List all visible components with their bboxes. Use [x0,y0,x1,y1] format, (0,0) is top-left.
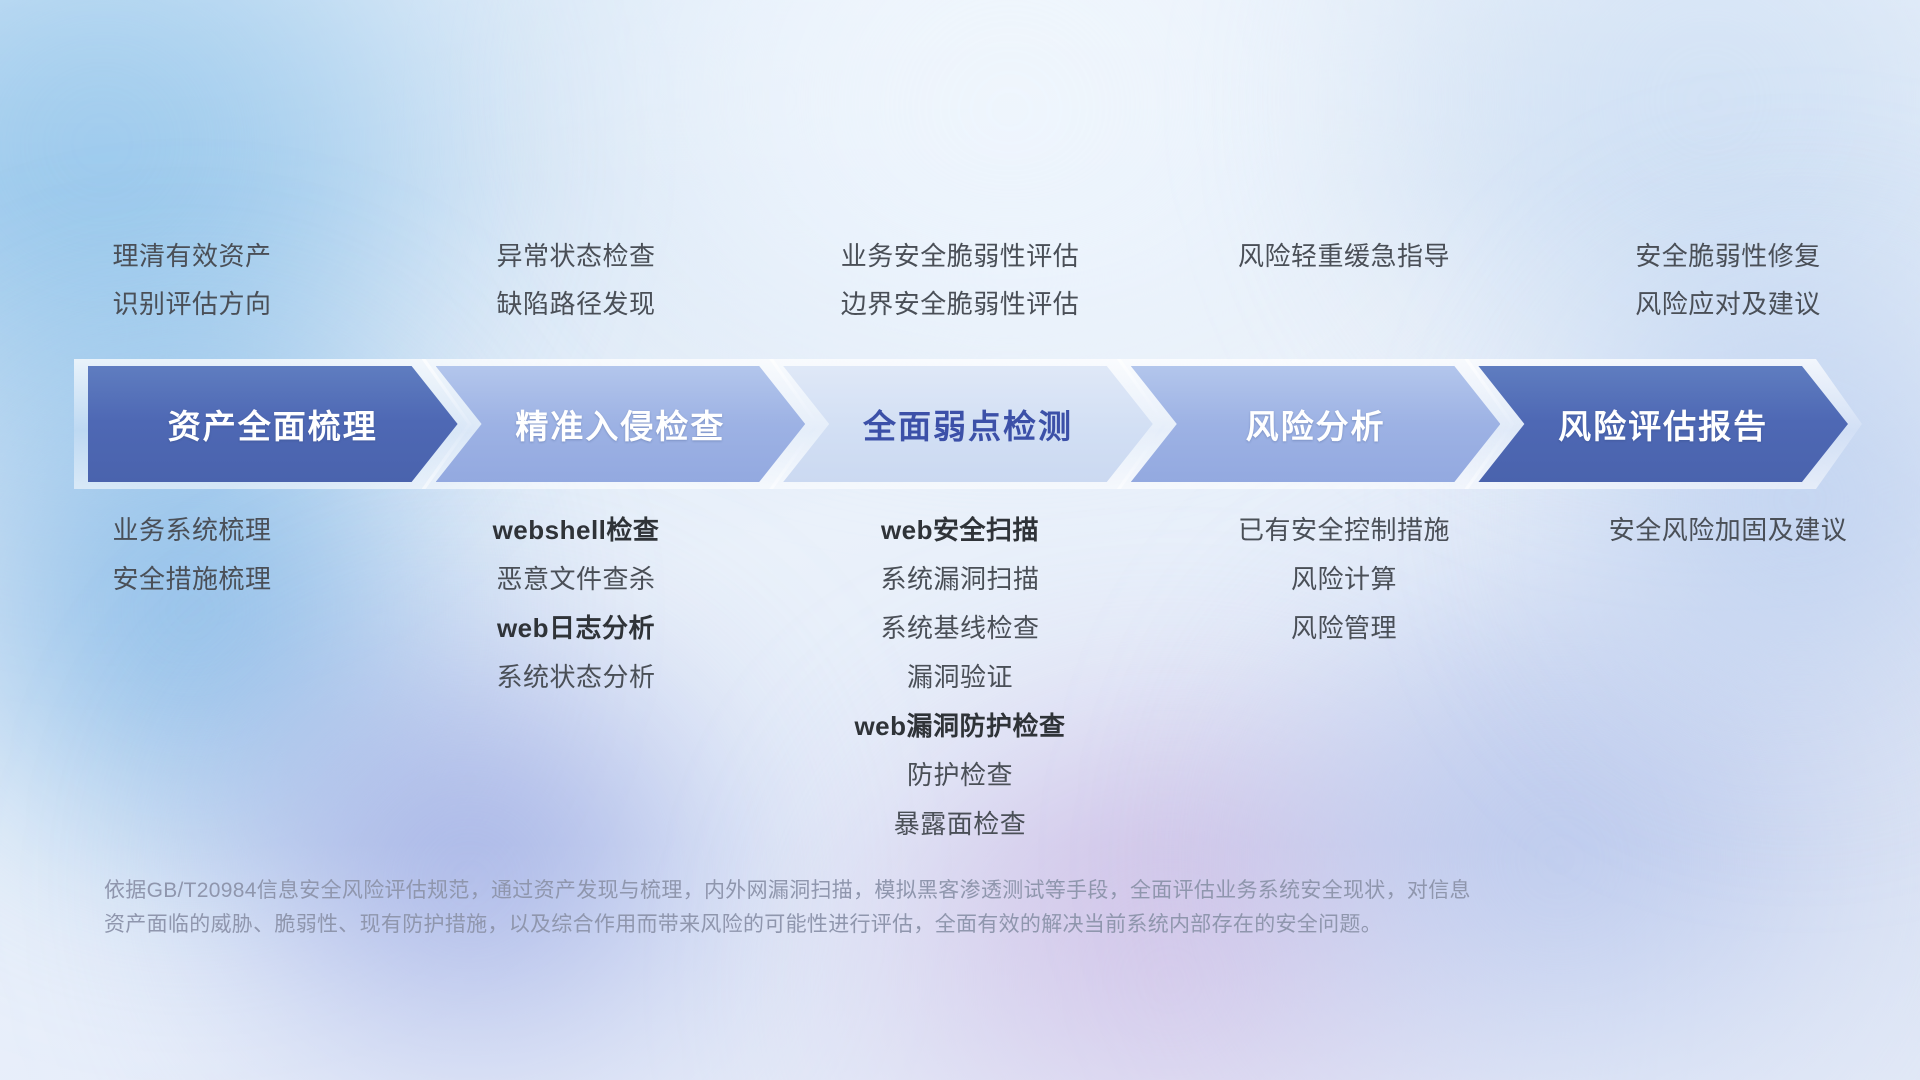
stage-label: 风险评估报告 [1558,400,1768,448]
top-annotations-row: 理清有效资产识别评估方向异常状态检查缺陷路径发现业务安全脆弱性评估边界安全脆弱性… [0,232,1920,342]
top-annotation-column-asset-inventory: 理清有效资产识别评估方向 [0,232,384,342]
bottom-annotation-item: 暴露面检查 [894,800,1027,849]
bottom-annotation-column-intrusion-check: webshell检查恶意文件查杀web日志分析系统状态分析 [384,506,768,836]
top-annotation-item: 理清有效资产 [112,232,271,280]
bottom-annotation-item: web漏洞防护检查 [854,702,1065,751]
process-stage-risk-analysis[interactable]: 风险分析 [1131,366,1501,482]
top-annotation-item: 边界安全脆弱性评估 [841,280,1080,328]
bottom-annotation-item: 恶意文件查杀 [496,555,655,604]
bottom-annotation-column-risk-analysis: 已有安全控制措施风险计算风险管理 [1152,506,1536,836]
stage-label: 风险分析 [1246,400,1386,448]
process-stage-intrusion-check[interactable]: 精准入侵检查 [436,366,806,482]
bottom-annotation-item: 安全措施梳理 [112,555,271,604]
top-annotation-column-risk-analysis: 风险轻重缓急指导 [1152,232,1536,342]
footer-description: 依据GB/T20984信息安全风险评估规范，通过资产发现与梳理，内外网漏洞扫描，… [104,874,1744,942]
stage-label: 资产全面梳理 [168,400,378,448]
top-annotation-column-weakness-detection: 业务安全脆弱性评估边界安全脆弱性评估 [768,232,1152,342]
top-annotation-item: 异常状态检查 [496,232,655,280]
top-annotation-column-intrusion-check: 异常状态检查缺陷路径发现 [384,232,768,342]
top-annotation-item: 业务安全脆弱性评估 [841,232,1080,280]
bottom-annotation-item: 业务系统梳理 [112,506,271,555]
bottom-annotation-item: 防护检查 [907,751,1013,800]
top-annotation-item: 安全脆弱性修复 [1635,232,1821,280]
bottom-annotation-item: 系统状态分析 [496,653,655,702]
bottom-annotation-item: web安全扫描 [881,506,1039,555]
top-annotation-item: 缺陷路径发现 [496,280,655,328]
top-annotation-column-assessment-report: 安全脆弱性修复风险应对及建议 [1536,232,1920,342]
process-stage-assessment-report[interactable]: 风险评估报告 [1478,366,1848,482]
process-diagram: 理清有效资产识别评估方向异常状态检查缺陷路径发现业务安全脆弱性评估边界安全脆弱性… [0,0,1920,1080]
bottom-annotation-column-asset-inventory: 业务系统梳理安全措施梳理 [0,506,384,836]
bottom-annotation-item: 风险计算 [1291,555,1397,604]
bottom-annotation-item: 漏洞验证 [907,653,1013,702]
bottom-annotation-item: webshell检查 [493,506,660,555]
bottom-annotation-item: web日志分析 [497,604,655,653]
footer-line-2: 资产面临的威胁、脆弱性、现有防护措施，以及综合作用而带来风险的可能性进行评估，全… [104,908,1744,942]
process-arrow-band: 资产全面梳理精准入侵检查全面弱点检测风险分析风险评估报告 [88,366,1848,482]
stage-label: 精准入侵检查 [515,400,725,448]
bottom-annotation-column-assessment-report: 安全风险加固及建议 [1536,506,1920,836]
process-stage-weakness-detection[interactable]: 全面弱点检测 [783,366,1153,482]
bottom-annotation-item: 风险管理 [1291,604,1397,653]
top-annotation-item: 风险轻重缓急指导 [1238,232,1450,280]
stage-label: 全面弱点检测 [863,400,1073,448]
bottom-annotation-item: 安全风险加固及建议 [1609,506,1848,555]
top-annotation-item: 风险应对及建议 [1635,280,1821,328]
process-stage-asset-inventory[interactable]: 资产全面梳理 [88,366,458,482]
bottom-annotation-item: 已有安全控制措施 [1238,506,1450,555]
top-annotation-item: 识别评估方向 [112,280,271,328]
footer-line-1: 依据GB/T20984信息安全风险评估规范，通过资产发现与梳理，内外网漏洞扫描，… [104,874,1744,908]
bottom-annotation-item: 系统基线检查 [880,604,1039,653]
bottom-annotations-row: 业务系统梳理安全措施梳理webshell检查恶意文件查杀web日志分析系统状态分… [0,506,1920,836]
bottom-annotation-item: 系统漏洞扫描 [880,555,1039,604]
bottom-annotation-column-weakness-detection: web安全扫描系统漏洞扫描系统基线检查漏洞验证web漏洞防护检查防护检查暴露面检… [768,506,1152,836]
